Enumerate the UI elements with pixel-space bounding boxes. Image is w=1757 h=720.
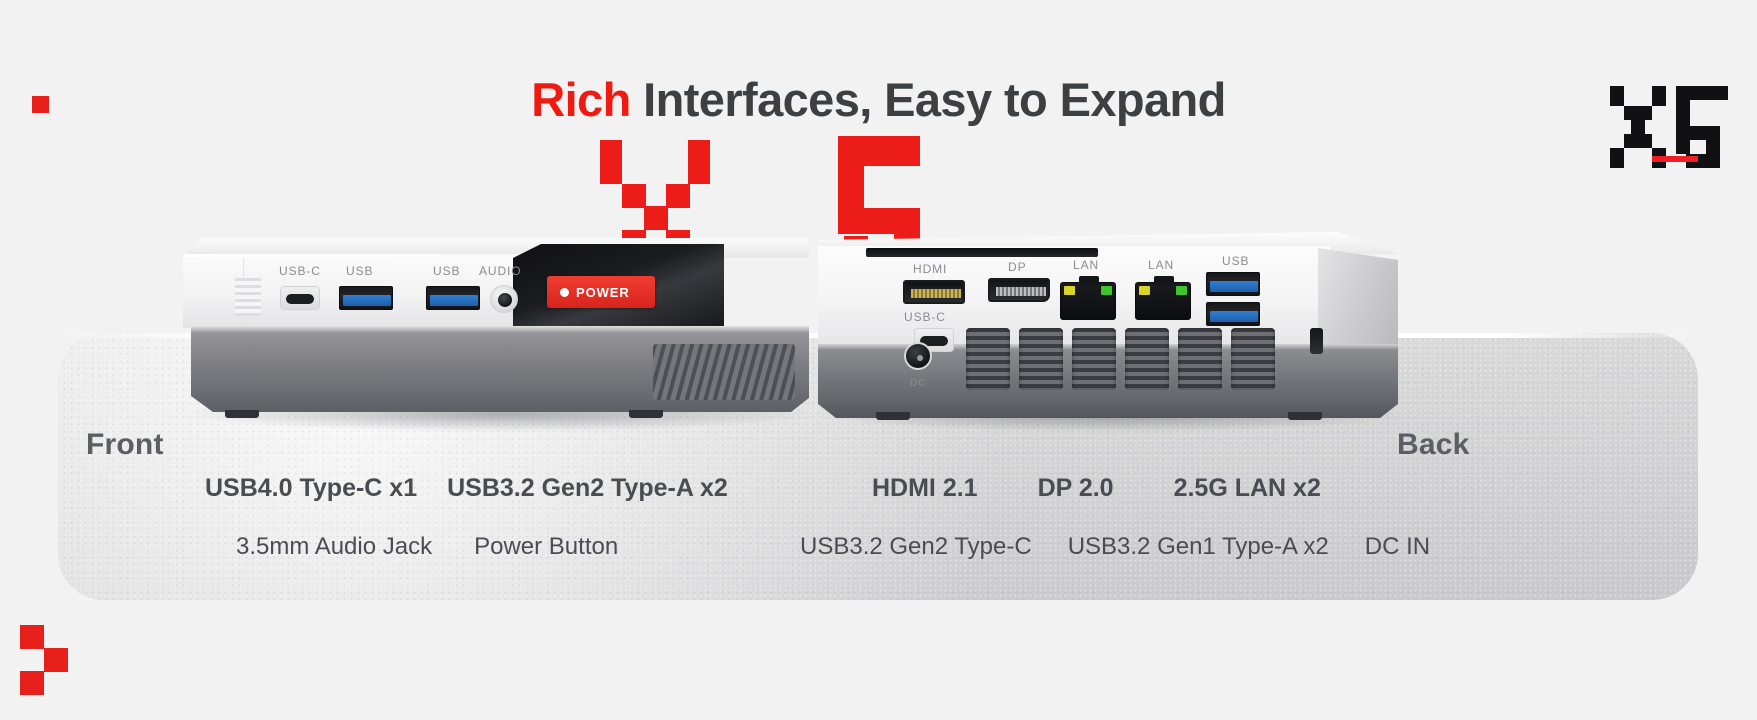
power-button[interactable]: POWER xyxy=(547,276,655,308)
back-unit-top-slot xyxy=(866,248,1098,257)
back-specs-row-1: HDMI 2.1 DP 2.0 2.5G LAN x2 xyxy=(872,474,1321,503)
usb-a-port-back-2[interactable] xyxy=(1206,302,1260,326)
back-vent-5 xyxy=(1178,328,1222,390)
headline-accent: Rich xyxy=(531,73,630,126)
port-label-usb-back: USB xyxy=(1222,254,1249,268)
front-unit-foot-right xyxy=(629,410,663,418)
port-label-usb-2: USB xyxy=(433,264,460,278)
front-unit-foot-left xyxy=(225,410,259,418)
back-unit: HDMI USB-C DP LAN LAN USB DC xyxy=(818,232,1398,418)
spec-item: USB4.0 Type-C x1 xyxy=(205,474,417,503)
port-label-usb-1: USB xyxy=(346,264,373,278)
lan-2-led-left xyxy=(1139,286,1150,295)
front-specs-row-2: 3.5mm Audio Jack Power Button xyxy=(236,533,618,561)
back-vent-2 xyxy=(1019,328,1063,390)
logo-underline xyxy=(1652,156,1698,162)
lan-2-notch xyxy=(1154,276,1174,285)
lan-1-led-left xyxy=(1064,286,1075,295)
back-unit-foot-right xyxy=(1288,412,1322,420)
lan-port-2[interactable] xyxy=(1135,282,1191,320)
usb-a-port-2[interactable] xyxy=(426,286,480,310)
power-button-label: POWER xyxy=(576,285,630,300)
lan-1-notch xyxy=(1079,276,1099,285)
marketing-banner: Rich Interfaces, Easy to Expand xyxy=(0,0,1757,720)
lan-port-1[interactable] xyxy=(1060,282,1116,320)
lan-2-led-right xyxy=(1176,286,1187,295)
spec-item: 2.5G LAN x2 xyxy=(1174,474,1321,503)
headline-rest: Interfaces, Easy to Expand xyxy=(643,73,1226,126)
back-unit-side-panel xyxy=(1318,248,1398,350)
spec-item: 3.5mm Audio Jack xyxy=(236,533,432,561)
port-label-usb-c: USB-C xyxy=(279,264,321,278)
back-unit-vent-group xyxy=(966,328,1296,390)
power-indicator-dot xyxy=(560,288,569,297)
front-specs-row-1: USB4.0 Type-C x1 USB3.2 Gen2 Type-A x2 xyxy=(205,474,728,503)
port-label-audio: AUDIO xyxy=(479,264,522,278)
port-label-usb-c-back: USB-C xyxy=(904,310,946,324)
kensington-lock-slot xyxy=(1310,328,1323,354)
pixel-decoration-bottom-left-1 xyxy=(20,625,44,649)
port-label-lan-2: LAN xyxy=(1148,258,1174,272)
lan-1-led-right xyxy=(1101,286,1112,295)
front-unit-body-highlight xyxy=(191,326,809,333)
back-vent-6 xyxy=(1231,328,1275,390)
port-label-dc: DC xyxy=(910,378,926,389)
spec-item: HDMI 2.1 xyxy=(872,474,978,503)
back-vent-4 xyxy=(1125,328,1169,390)
pixel-decoration-bottom-left-2 xyxy=(44,648,68,672)
spec-item: DC IN xyxy=(1365,533,1430,561)
hdmi-port[interactable] xyxy=(903,280,965,304)
port-label-dp: DP xyxy=(1008,260,1026,274)
spec-item: USB3.2 Gen2 Type-A x2 xyxy=(447,474,728,503)
spec-item: Power Button xyxy=(474,533,618,561)
audio-jack-port[interactable] xyxy=(490,285,518,313)
pixel-decoration-bottom-left-3 xyxy=(20,671,44,695)
back-unit-foot-left xyxy=(876,412,910,420)
front-unit-side-grille xyxy=(235,278,261,316)
spec-item: USB3.2 Gen2 Type-C xyxy=(800,533,1032,561)
spec-item: USB3.2 Gen1 Type-A x2 xyxy=(1068,533,1329,561)
dc-in-port[interactable] xyxy=(904,342,932,370)
front-side-label: Front xyxy=(86,428,164,462)
usb-a-port-1[interactable] xyxy=(339,286,393,310)
usb-a-port-back-1[interactable] xyxy=(1206,272,1260,296)
back-side-label: Back xyxy=(1397,428,1470,462)
usb-c-port[interactable] xyxy=(280,286,320,310)
front-unit-vent xyxy=(653,344,795,400)
port-label-lan-1: LAN xyxy=(1073,258,1099,272)
back-vent-1 xyxy=(966,328,1010,390)
back-vent-3 xyxy=(1072,328,1116,390)
port-label-hdmi: HDMI xyxy=(913,262,947,276)
x5-logo xyxy=(1610,86,1730,164)
back-specs-row-2: USB3.2 Gen2 Type-C USB3.2 Gen1 Type-A x2… xyxy=(800,533,1430,561)
spec-item: DP 2.0 xyxy=(1038,474,1114,503)
front-unit: USB-C USB USB AUDIO POWER xyxy=(183,238,809,416)
displayport-port[interactable] xyxy=(988,278,1050,302)
page-title: Rich Interfaces, Easy to Expand xyxy=(0,72,1757,127)
